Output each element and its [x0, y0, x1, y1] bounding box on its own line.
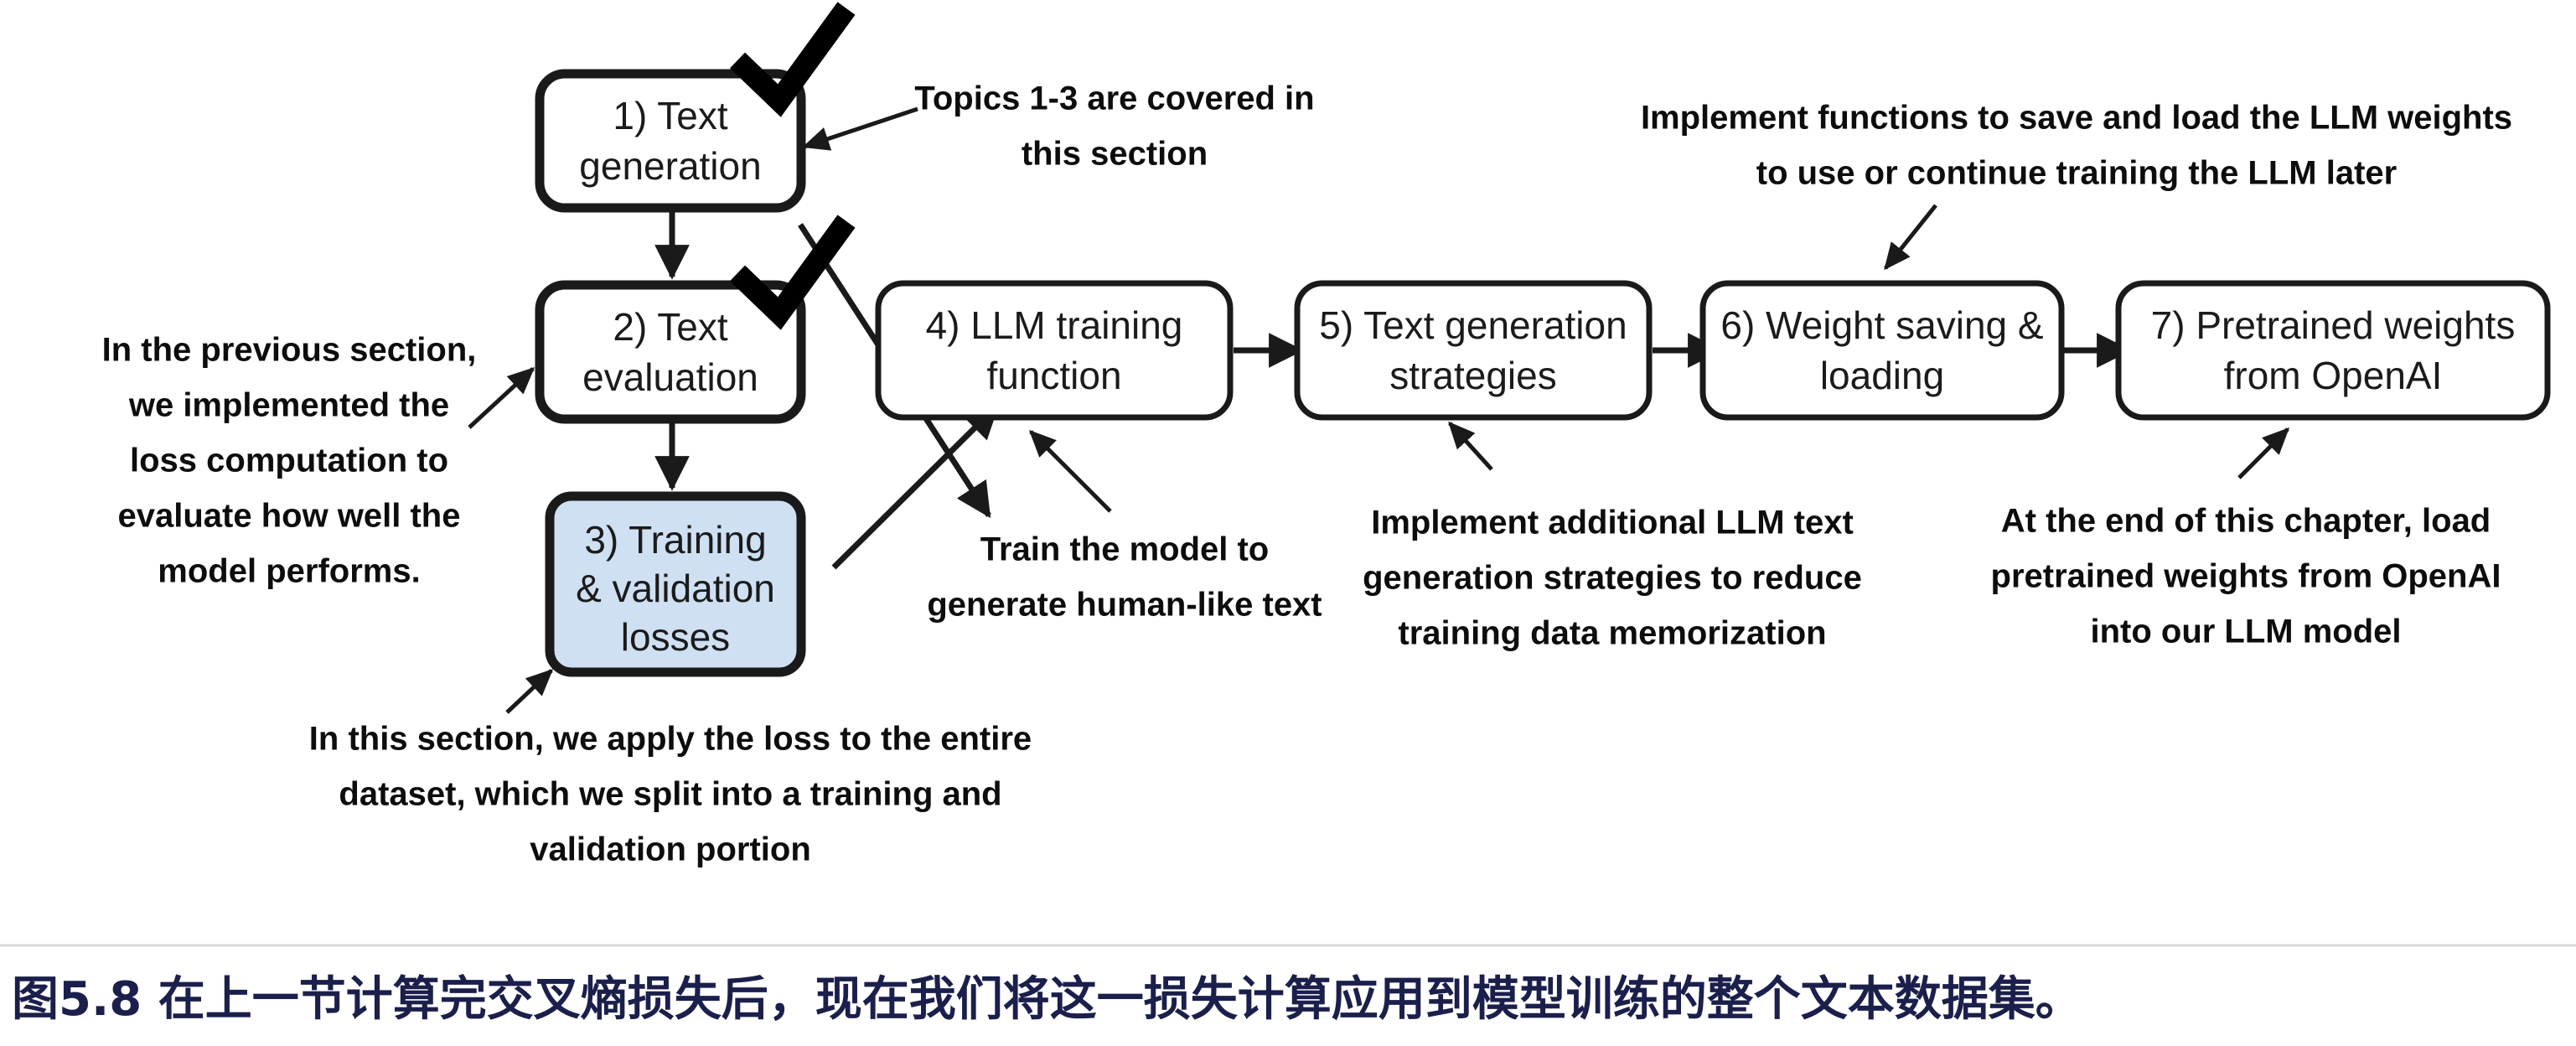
check-icon-node-1 [737, 8, 846, 101]
node-3-line1: 3) Training [584, 518, 766, 562]
annotation-previous-section-line5: model performs. [158, 553, 420, 590]
leader-this-section [507, 671, 551, 712]
annotation-topics-line2: this section [1022, 136, 1208, 173]
annotation-train-model-line1: Train the model to [980, 531, 1269, 568]
node-2-text-evaluation[interactable]: 2) Text evaluation [540, 221, 846, 419]
node-6-line2: loading [1820, 354, 1944, 397]
annotation-previous-section-line4: evaluate how well the [117, 498, 460, 535]
annotation-this-section-line2: dataset, which we split into a training … [339, 776, 1001, 813]
annotation-this-section: In this section, we apply the loss to th… [309, 721, 1032, 868]
node-7-line1: 7) Pretrained weights [2151, 303, 2516, 347]
annotation-save-load-line1: Implement functions to save and load the… [1641, 100, 2512, 137]
annotation-end-of-chapter-line3: into our LLM model [2090, 614, 2401, 650]
annotation-topics: Topics 1-3 are covered in this section [914, 80, 1314, 173]
annotation-additional-strategies-line2: generation strategies to reduce [1363, 560, 1862, 597]
annotation-previous-section: In the previous section, we implemented … [102, 332, 477, 590]
node-4-line2: function [986, 354, 1121, 397]
annotation-this-section-line3: validation portion [530, 831, 811, 868]
annotation-previous-section-line2: we implemented the [128, 387, 449, 424]
annotation-train-model: Train the model to generate human-like t… [927, 531, 1322, 624]
annotation-additional-strategies: Implement additional LLM text generation… [1363, 505, 1862, 652]
node-4-llm-training-function[interactable]: 4) LLM training function [878, 283, 1230, 417]
node-1-line2: generation [579, 144, 761, 188]
node-3-line2: & validation [576, 567, 775, 610]
node-5-line2: strategies [1389, 354, 1556, 397]
leader-end-of-chapter [2239, 429, 2288, 478]
node-4-line1: 4) LLM training [926, 303, 1183, 347]
leader-additional-strategies [1450, 423, 1492, 469]
node-1-text-generation[interactable]: 1) Text generation [540, 8, 846, 208]
annotation-save-load-line2: to use or continue training the LLM late… [1756, 155, 2397, 192]
annotation-additional-strategies-line1: Implement additional LLM text [1371, 505, 1854, 541]
node-2-line1: 2) Text [613, 305, 727, 349]
annotation-end-of-chapter-line1: At the end of this chapter, load [2001, 503, 2491, 540]
node-7-line2: from OpenAI [2224, 354, 2443, 397]
leader-topics [804, 109, 918, 147]
leader-train-model [1031, 432, 1110, 511]
node-1-line1: 1) Text [613, 94, 727, 137]
figure-caption: 图5.8 在上一节计算完交叉熵损失后，现在我们将这一损失计算应用到模型训练的整个… [12, 972, 2082, 1027]
annotation-end-of-chapter: At the end of this chapter, load pretrai… [1991, 503, 2501, 650]
node-7-pretrained-weights-openai[interactable]: 7) Pretrained weights from OpenAI [2118, 283, 2548, 417]
annotation-previous-section-line3: loss computation to [130, 443, 448, 479]
annotation-save-load: Implement functions to save and load the… [1641, 100, 2512, 192]
pipeline-diagram: 1) Text generation 2) Text evaluation 3)… [0, 0, 2576, 1046]
annotation-end-of-chapter-line2: pretrained weights from OpenAI [1991, 558, 2501, 595]
annotation-train-model-line2: generate human-like text [927, 587, 1322, 624]
node-6-weight-saving-loading[interactable]: 6) Weight saving & loading [1703, 283, 2061, 417]
node-6-line1: 6) Weight saving & [1720, 303, 2043, 347]
figure-page: 1) Text generation 2) Text evaluation 3)… [0, 0, 2576, 1046]
annotation-additional-strategies-line3: training data memorization [1398, 615, 1826, 652]
node-2-line2: evaluation [582, 355, 758, 399]
annotation-topics-line1: Topics 1-3 are covered in [914, 80, 1314, 117]
leader-save-load [1885, 205, 1936, 268]
node-3-line3: losses [621, 615, 730, 659]
node-3-training-validation-losses[interactable]: 3) Training & validation losses [550, 496, 801, 672]
annotation-this-section-line1: In this section, we apply the loss to th… [309, 721, 1032, 758]
leader-previous-section [469, 369, 533, 427]
node-5-text-generation-strategies[interactable]: 5) Text generation strategies [1297, 283, 1649, 417]
node-5-line1: 5) Text generation [1319, 303, 1627, 347]
annotation-previous-section-line1: In the previous section, [102, 332, 477, 369]
